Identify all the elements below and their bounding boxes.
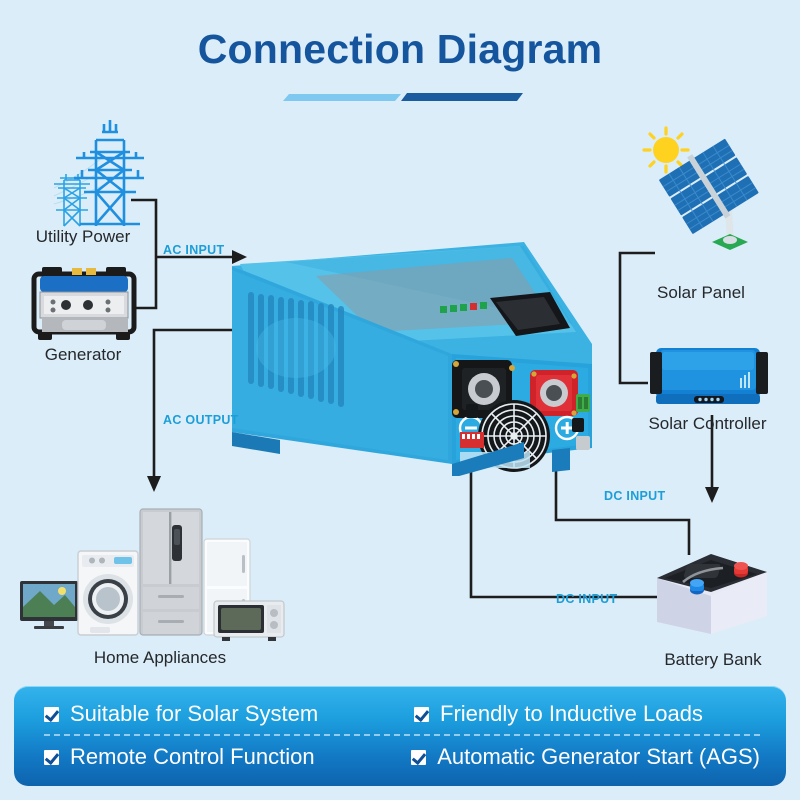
battery-icon: [645, 530, 775, 640]
transmission-tower-icon: [24, 118, 144, 228]
node-label-solar-panel: Solar Panel: [606, 283, 796, 303]
feature-label: Remote Control Function: [70, 744, 315, 770]
node-label-battery-bank: Battery Bank: [638, 650, 788, 670]
wire-label-dc-input-bottom: DC INPUT: [556, 592, 617, 606]
power-inverter-icon: [224, 236, 592, 476]
feature-label: Suitable for Solar System: [70, 701, 318, 727]
wire-label-ac-input: AC INPUT: [163, 243, 224, 257]
node-label-home-appliances: Home Appliances: [60, 648, 260, 668]
connection-diagram-page: Connection Diagram: [0, 0, 800, 800]
arrow-ac-output: [147, 476, 161, 492]
features-bar: Suitable for Solar System Friendly to In…: [14, 686, 786, 786]
appliances-icon: [18, 495, 288, 645]
feature-item-remote-control-function[interactable]: Remote Control Function: [44, 744, 387, 770]
solar-panel-icon: [630, 122, 782, 262]
check-icon: [44, 707, 59, 722]
node-label-utility-power: Utility Power: [18, 227, 148, 247]
arrow-dc-controller: [705, 487, 719, 503]
features-row-2: Remote Control Function Automatic Genera…: [44, 736, 760, 778]
node-label-generator: Generator: [18, 345, 148, 365]
feature-label: Automatic Generator Start (AGS): [437, 744, 760, 770]
wire-label-ac-output: AC OUTPUT: [163, 413, 239, 427]
solar-charge-controller-icon: [648, 334, 770, 416]
check-icon: [44, 750, 59, 765]
features-row-1: Suitable for Solar System Friendly to In…: [44, 694, 760, 736]
feature-item-friendly-to-inductive-loads[interactable]: Friendly to Inductive Loads: [390, 701, 760, 727]
portable-generator-icon: [28, 258, 140, 346]
check-icon: [411, 750, 426, 765]
check-icon: [414, 707, 429, 722]
node-label-solar-controller: Solar Controller: [600, 414, 800, 434]
feature-item-suitable-for-solar-system[interactable]: Suitable for Solar System: [44, 701, 390, 727]
feature-label: Friendly to Inductive Loads: [440, 701, 703, 727]
feature-item-automatic-generator-start[interactable]: Automatic Generator Start (AGS): [387, 744, 760, 770]
wire-label-dc-input-top: DC INPUT: [604, 489, 665, 503]
